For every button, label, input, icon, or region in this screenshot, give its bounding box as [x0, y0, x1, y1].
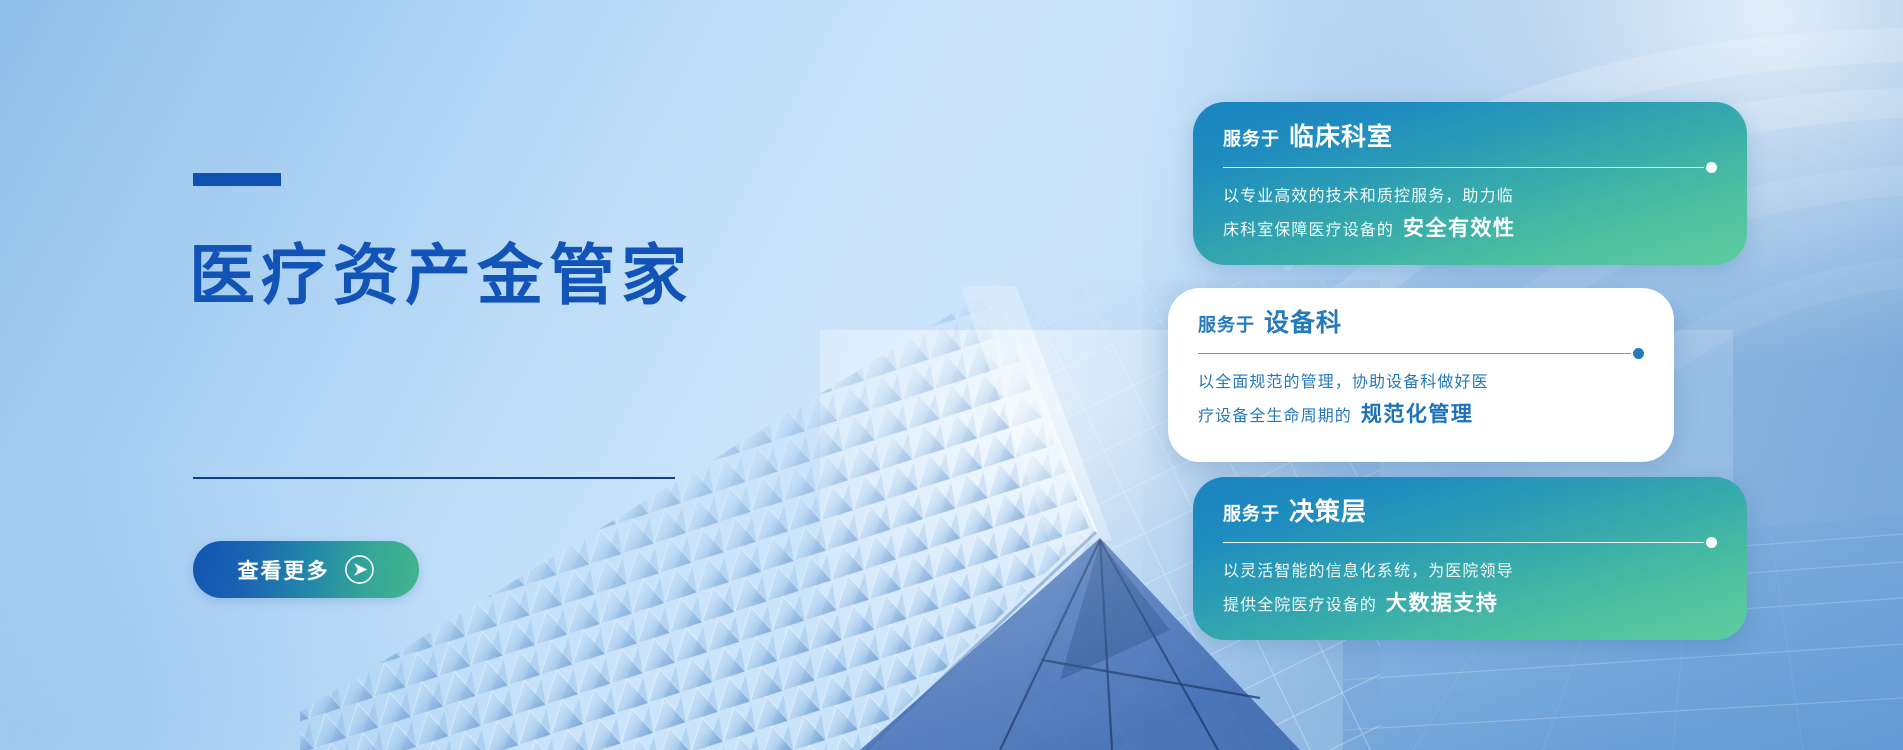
card-body-line-1: 以专业高效的技术和质控服务，助力临 — [1223, 183, 1717, 209]
card-heading-keyword: 临床科室 — [1289, 124, 1393, 149]
service-card-list: 服务于 临床科室 以专业高效的技术和质控服务，助力临 床科室保障医疗设备的 安全… — [0, 0, 1903, 750]
card-divider-line — [1223, 167, 1704, 168]
card-divider-dot — [1706, 162, 1717, 173]
card-body: 以全面规范的管理，协助设备科做好医 疗设备全生命周期的 规范化管理 — [1198, 369, 1644, 431]
card-body-emphasis: 安全有效性 — [1403, 211, 1516, 245]
card-divider-dot — [1706, 537, 1717, 548]
service-card-decision-makers[interactable]: 服务于 决策层 以灵活智能的信息化系统，为医院领导 提供全院医疗设备的 大数据支… — [1193, 477, 1747, 640]
hero-banner: 医疗资产金管家 查看更多 服务于 临床科室 以专业高效的技术和质控服务，助力临 — [0, 0, 1903, 750]
card-body-line-1: 以全面规范的管理，协助设备科做好医 — [1198, 369, 1644, 395]
card-body-emphasis: 规范化管理 — [1361, 397, 1474, 431]
card-body-line-2-text: 疗设备全生命周期的 — [1198, 403, 1352, 429]
card-divider-line — [1223, 542, 1704, 543]
card-divider — [1223, 537, 1717, 548]
card-body-emphasis: 大数据支持 — [1386, 586, 1499, 620]
service-card-clinical-department[interactable]: 服务于 临床科室 以专业高效的技术和质控服务，助力临 床科室保障医疗设备的 安全… — [1193, 102, 1747, 265]
card-divider-line — [1198, 353, 1631, 354]
card-body-line-1: 以灵活智能的信息化系统，为医院领导 — [1223, 558, 1717, 584]
card-heading-prefix: 服务于 — [1223, 506, 1280, 524]
card-divider — [1223, 162, 1717, 173]
card-heading: 服务于 设备科 — [1198, 310, 1644, 335]
card-body: 以专业高效的技术和质控服务，助力临 床科室保障医疗设备的 安全有效性 — [1223, 183, 1717, 245]
card-body-line-2: 疗设备全生命周期的 规范化管理 — [1198, 397, 1644, 431]
service-card-equipment-department[interactable]: 服务于 设备科 以全面规范的管理，协助设备科做好医 疗设备全生命周期的 规范化管… — [1168, 288, 1674, 462]
card-divider — [1198, 348, 1644, 359]
card-heading: 服务于 决策层 — [1223, 499, 1717, 524]
card-body-line-2: 床科室保障医疗设备的 安全有效性 — [1223, 211, 1717, 245]
card-body-line-2-text: 提供全院医疗设备的 — [1223, 592, 1377, 618]
card-body: 以灵活智能的信息化系统，为医院领导 提供全院医疗设备的 大数据支持 — [1223, 558, 1717, 620]
card-heading-prefix: 服务于 — [1198, 317, 1255, 335]
card-body-line-2-text: 床科室保障医疗设备的 — [1223, 217, 1394, 243]
card-body-line-2: 提供全院医疗设备的 大数据支持 — [1223, 586, 1717, 620]
card-heading-keyword: 设备科 — [1264, 310, 1342, 335]
card-heading-keyword: 决策层 — [1289, 499, 1367, 524]
card-divider-dot — [1633, 348, 1644, 359]
card-heading-prefix: 服务于 — [1223, 131, 1280, 149]
card-heading: 服务于 临床科室 — [1223, 124, 1717, 149]
